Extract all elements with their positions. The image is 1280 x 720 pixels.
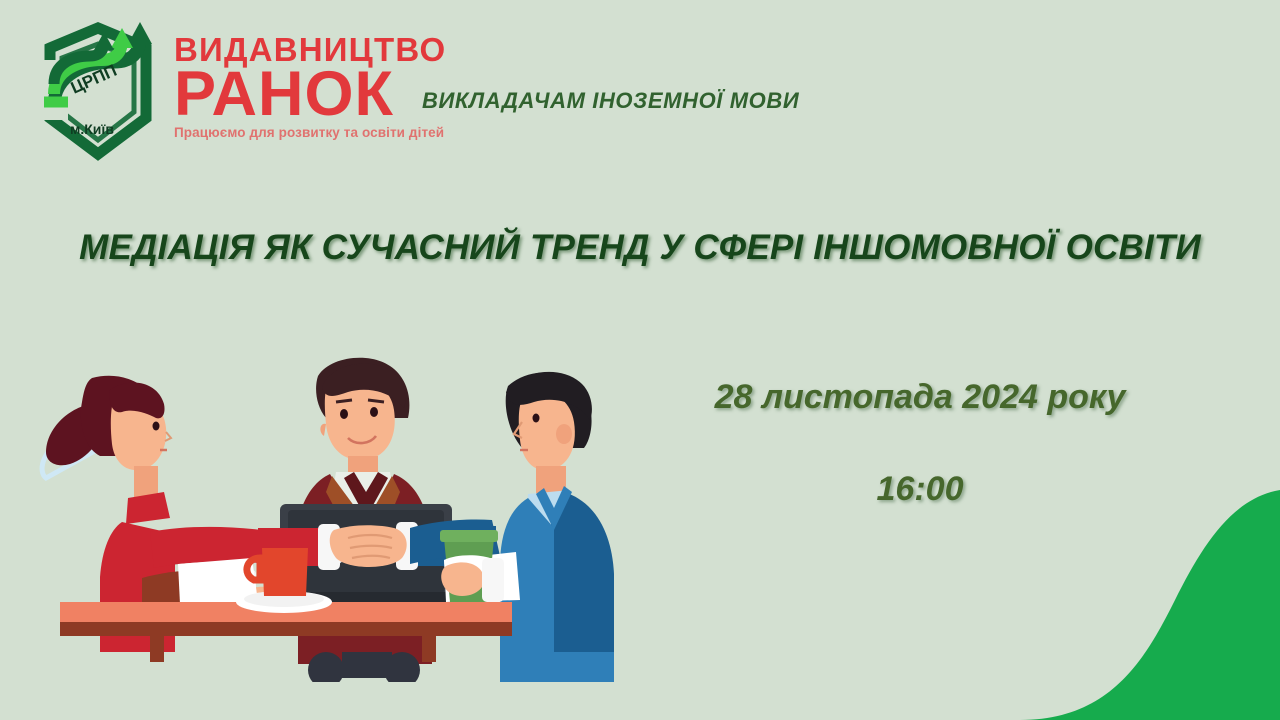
city-label: м.Київ <box>70 121 114 137</box>
presentation-slide: ЦРПП м.Київ ВИДАВНИЦТВО РАНОК Працюємо д… <box>0 0 1280 720</box>
event-date: 28 листопада 2024 року <box>640 378 1200 417</box>
audience-label: ВИКЛАДАЧАМ ІНОЗЕМНОЇ МОВИ <box>422 88 799 114</box>
page-title: МЕДІАЦІЯ ЯК СУЧАСНИЙ ТРЕНД У СФЕРІ ІНШОМ… <box>0 228 1280 268</box>
publisher-tagline: Працюємо для розвитку та освіти дітей <box>174 125 446 140</box>
publisher-logo: ЦРПП м.Київ ВИДАВНИЦТВО РАНОК Працюємо д… <box>28 14 446 166</box>
publisher-wordmark: ВИДАВНИЦТВО РАНОК Працюємо для розвитку … <box>174 34 446 140</box>
three-people-handshake-at-table <box>30 352 690 682</box>
crpp-kyiv-shield-arrows-logo: ЦРПП м.Київ <box>28 14 164 166</box>
publisher-line-2: РАНОК <box>174 67 446 121</box>
event-time: 16:00 <box>640 470 1200 509</box>
green-takeaway-coffee-cup <box>440 530 504 602</box>
green-corner-wave <box>980 490 1280 720</box>
